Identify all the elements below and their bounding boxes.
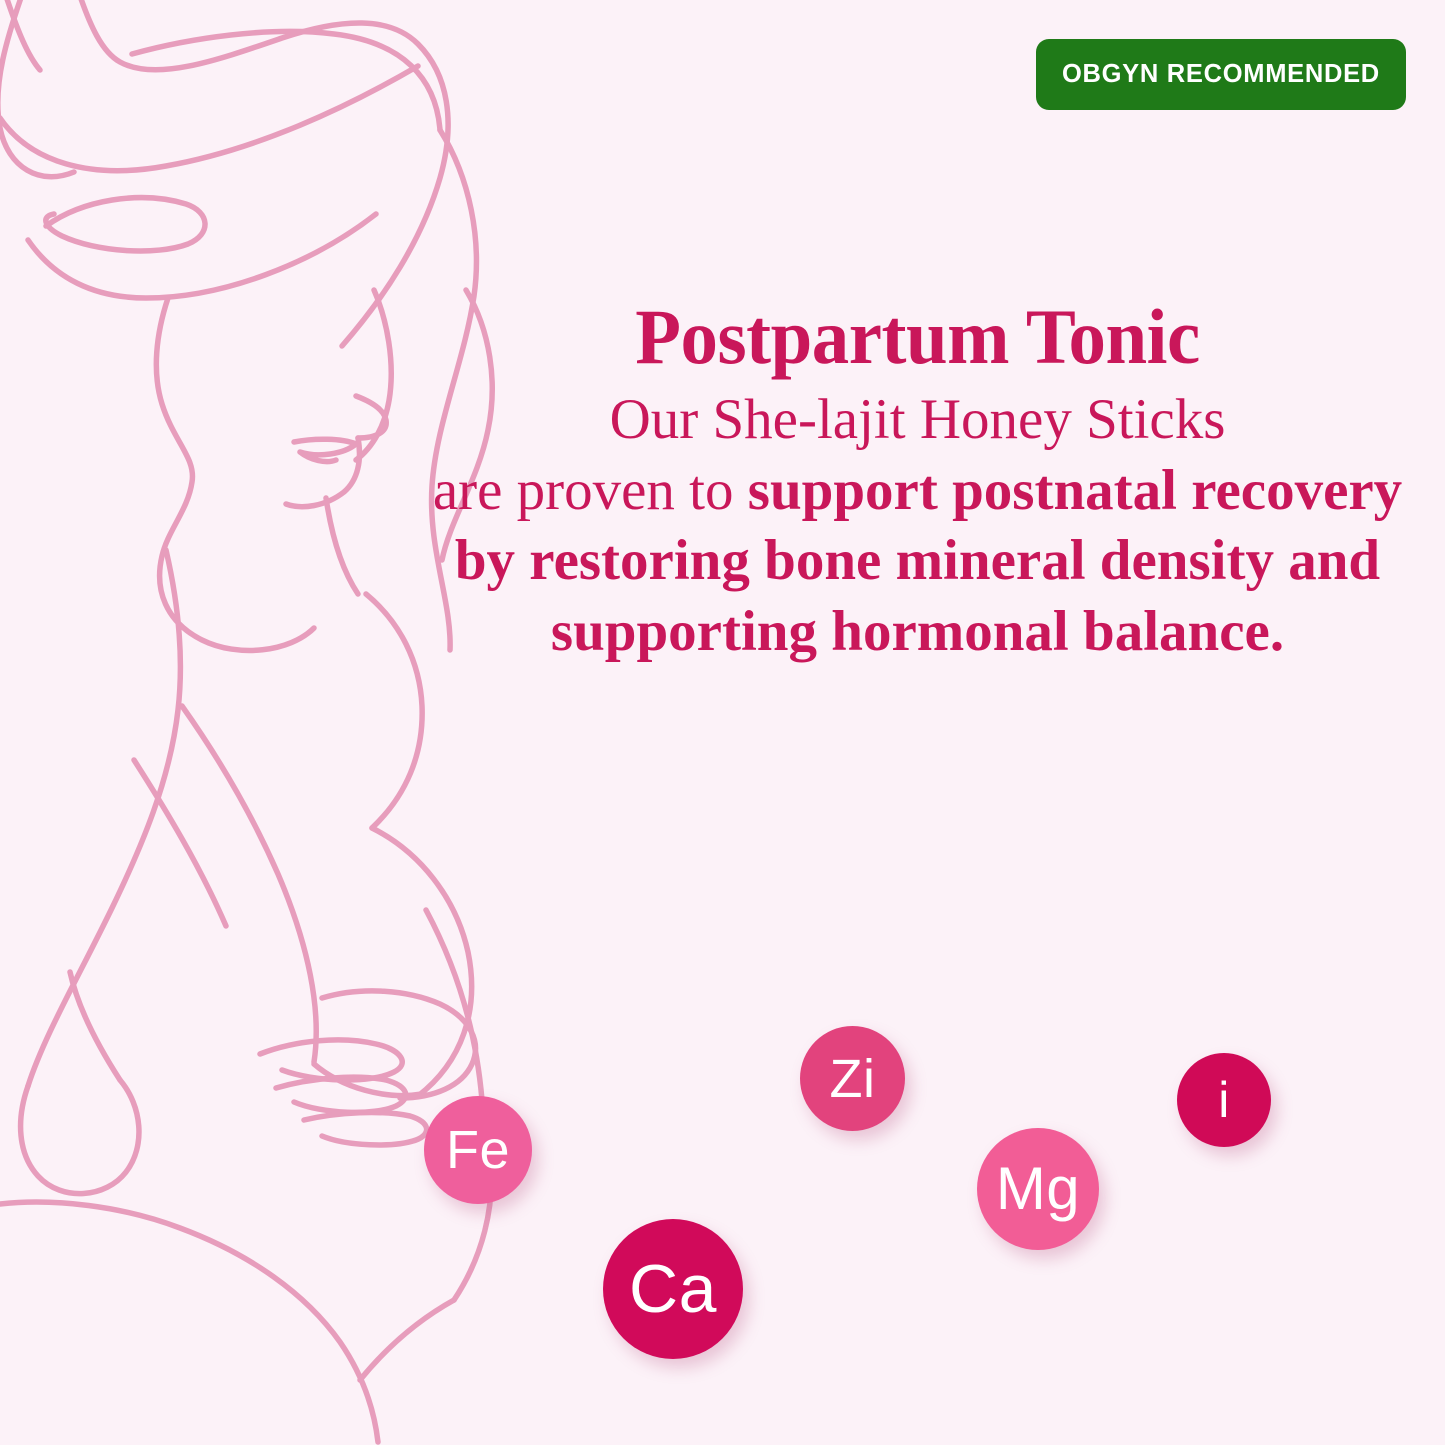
mineral-bubble-mg: Mg bbox=[977, 1128, 1099, 1250]
promo-text-block: Postpartum Tonic Our She-lajit Honey Sti… bbox=[415, 296, 1420, 668]
pregnant-woman-line-art-icon bbox=[0, 0, 590, 1445]
promo-graphic-canvas: OBGYN RECOMMENDED Postpartum Tonic Our S… bbox=[0, 0, 1445, 1445]
body-copy: Our She-lajit Honey Sticksare proven to … bbox=[415, 385, 1420, 668]
mineral-bubble-fe: Fe bbox=[424, 1096, 532, 1204]
mineral-bubble-zi: Zi bbox=[800, 1026, 905, 1131]
obgyn-recommended-badge: OBGYN RECOMMENDED bbox=[1036, 39, 1406, 110]
mineral-bubble-label: Fe bbox=[446, 1123, 510, 1177]
mineral-bubble-ca: Ca bbox=[603, 1219, 743, 1359]
mineral-bubble-label: Zi bbox=[830, 1052, 876, 1106]
body-copy-light-tail: are proven to bbox=[433, 459, 748, 522]
mineral-bubble-i: i bbox=[1177, 1053, 1271, 1147]
body-copy-light-lead: Our She-lajit Honey Sticks bbox=[610, 388, 1226, 451]
page-title: Postpartum Tonic bbox=[435, 296, 1400, 377]
mineral-bubble-label: i bbox=[1218, 1075, 1230, 1125]
badge-label: OBGYN RECOMMENDED bbox=[1062, 60, 1380, 89]
mineral-bubble-label: Mg bbox=[996, 1159, 1080, 1219]
mineral-bubble-label: Ca bbox=[629, 1255, 717, 1323]
